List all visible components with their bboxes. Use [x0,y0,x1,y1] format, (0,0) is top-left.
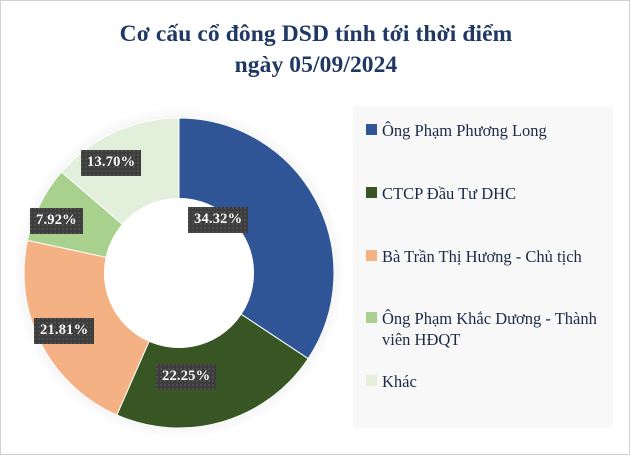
legend-item-ong-pham-khac-duong[interactable]: Ông Phạm Khắc Dương - Thành viên HĐQT [366,308,606,350]
page-title-line-2: ngày 05/09/2024 [51,50,581,81]
data-label-1: 22.25% [156,364,216,390]
legend-label-4: Khác [382,371,417,392]
page-title-line-1: Cơ cấu cổ đông DSD tính tới thời điểm [51,19,581,50]
legend-label-1: CTCP Đầu Tư DHC [382,183,516,204]
legend-label-2: Bà Trần Thị Hương - Chủ tịch [382,246,582,267]
legend-swatch-icon-4 [366,375,377,386]
donut-svg [11,101,351,446]
data-label-4: 13.70% [81,150,141,176]
donut-chart [11,101,351,446]
legend-item-khac[interactable]: Khác [366,371,606,392]
legend-item-ba-tran-thi-huong[interactable]: Bà Trần Thị Hương - Chủ tịch [366,246,606,267]
legend-label-0: Ông Phạm Phương Long [382,120,547,141]
chart-page: Cơ cấu cổ đông DSD tính tới thời điểm ng… [0,0,630,455]
legend-swatch-icon-2 [366,250,377,261]
data-label-2: 21.81% [34,318,94,344]
legend-item-ong-pham-phuong-long[interactable]: Ông Phạm Phương Long [366,120,606,141]
data-label-0: 34.32% [188,207,248,233]
legend-swatch-icon-1 [366,187,377,198]
legend: Ông Phạm Phương Long CTCP Đầu Tư DHC Bà … [353,106,613,428]
chart-plot-area: 34.32% 22.25% 21.81% 7.92% 13.70% [11,101,351,446]
legend-label-3: Ông Phạm Khắc Dương - Thành viên HĐQT [382,308,606,350]
data-label-3: 7.92% [30,208,83,234]
legend-item-ctcp-dau-tu-dhc[interactable]: CTCP Đầu Tư DHC [366,183,606,204]
legend-swatch-icon-3 [366,312,377,323]
page-title: Cơ cấu cổ đông DSD tính tới thời điểm ng… [51,19,581,81]
legend-swatch-icon-0 [366,124,377,135]
